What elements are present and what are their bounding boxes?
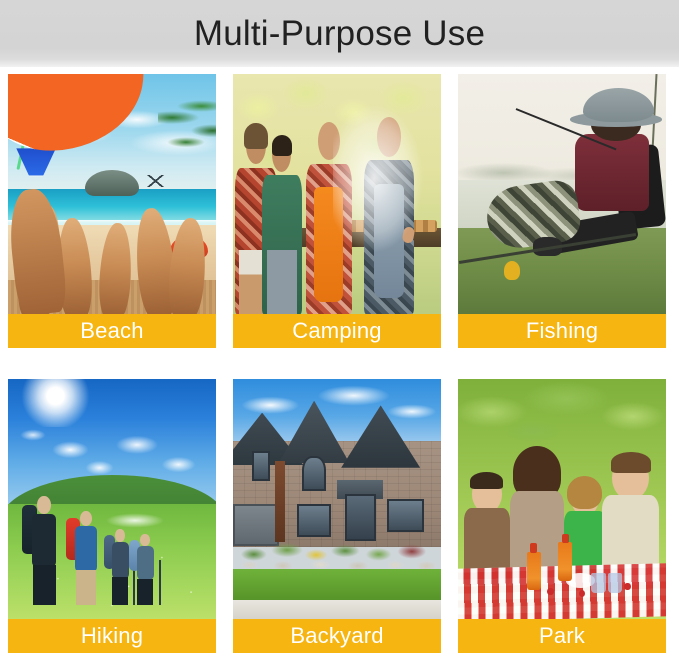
label-text-backyard: Backyard [290, 625, 383, 647]
label-text-beach: Beach [80, 320, 143, 342]
fishing-float [504, 261, 521, 280]
trekking-pole [159, 560, 161, 605]
label-band-camping: Camping [233, 314, 441, 348]
label-band-park: Park [458, 619, 666, 653]
grid-cell-fishing[interactable]: Fishing [450, 67, 674, 350]
person-torso [32, 514, 56, 567]
bbq-smoke [333, 84, 425, 257]
person-hair [611, 452, 651, 473]
person-legs [267, 250, 297, 314]
grid-cell-beach[interactable]: Beach [0, 67, 224, 350]
label-band-fishing: Fishing [458, 314, 666, 348]
strawberry [624, 583, 630, 590]
maroon-shirt [575, 134, 650, 211]
strawberry [547, 588, 553, 595]
page-title: Multi-Purpose Use [194, 16, 485, 51]
card-fishing[interactable]: Fishing [458, 74, 666, 348]
house-window [387, 499, 424, 532]
label-text-camping: Camping [292, 320, 381, 342]
person-legs [112, 577, 128, 605]
bucket-hat [583, 88, 654, 122]
hiker [133, 533, 158, 605]
label-text-hiking: Hiking [81, 625, 143, 647]
house-window [302, 456, 327, 491]
hiker [27, 494, 62, 604]
use-case-grid: Beach [0, 67, 679, 655]
photo-fishing [458, 74, 666, 314]
grid-cell-backyard[interactable]: Backyard [225, 372, 449, 655]
card-hiking[interactable]: Hiking [8, 379, 216, 653]
house-window [252, 451, 271, 481]
front-door [345, 494, 376, 541]
person-legs [76, 570, 96, 605]
person-torso [75, 526, 96, 572]
beach-bird [145, 175, 166, 187]
card-beach[interactable]: Beach [8, 74, 216, 348]
palm-tree [158, 93, 216, 175]
card-camping[interactable]: Camping [233, 74, 441, 348]
climbing-vine [275, 461, 285, 543]
person-hair [272, 135, 293, 156]
header-banner: Multi-Purpose Use [0, 0, 679, 67]
camper-person [262, 136, 302, 314]
juice-bottle [527, 552, 542, 590]
person-legs [33, 565, 56, 605]
person-torso [137, 546, 154, 581]
label-text-fishing: Fishing [526, 320, 598, 342]
label-band-backyard: Backyard [233, 619, 441, 653]
sidewalk [233, 600, 441, 619]
house-window [297, 504, 330, 537]
person-torso [112, 542, 129, 579]
photo-hiking [8, 379, 216, 619]
person-head [140, 534, 149, 546]
picnic-cup [608, 573, 623, 592]
person-hair [567, 476, 602, 510]
grid-cell-camping[interactable]: Camping [225, 67, 449, 350]
grid-cell-park[interactable]: Park [450, 372, 674, 655]
person-head [37, 496, 50, 514]
photo-park [458, 379, 666, 619]
person-hair [470, 472, 503, 490]
label-band-beach: Beach [8, 314, 216, 348]
person-legs [137, 579, 153, 605]
front-lawn [233, 569, 441, 600]
photo-camping [233, 74, 441, 314]
sun-glare [20, 379, 91, 427]
photo-beach [8, 74, 216, 314]
label-band-hiking: Hiking [8, 619, 216, 653]
person-head [115, 529, 124, 541]
card-park[interactable]: Park [458, 379, 666, 653]
hiker [70, 509, 101, 605]
label-text-park: Park [539, 625, 585, 647]
person-head [80, 511, 92, 526]
photo-backyard [233, 379, 441, 619]
juice-bottle [558, 542, 573, 580]
picnic-cup [591, 573, 606, 592]
card-backyard[interactable]: Backyard [233, 379, 441, 653]
grid-cell-hiking[interactable]: Hiking [0, 372, 224, 655]
row-gap [0, 350, 674, 372]
